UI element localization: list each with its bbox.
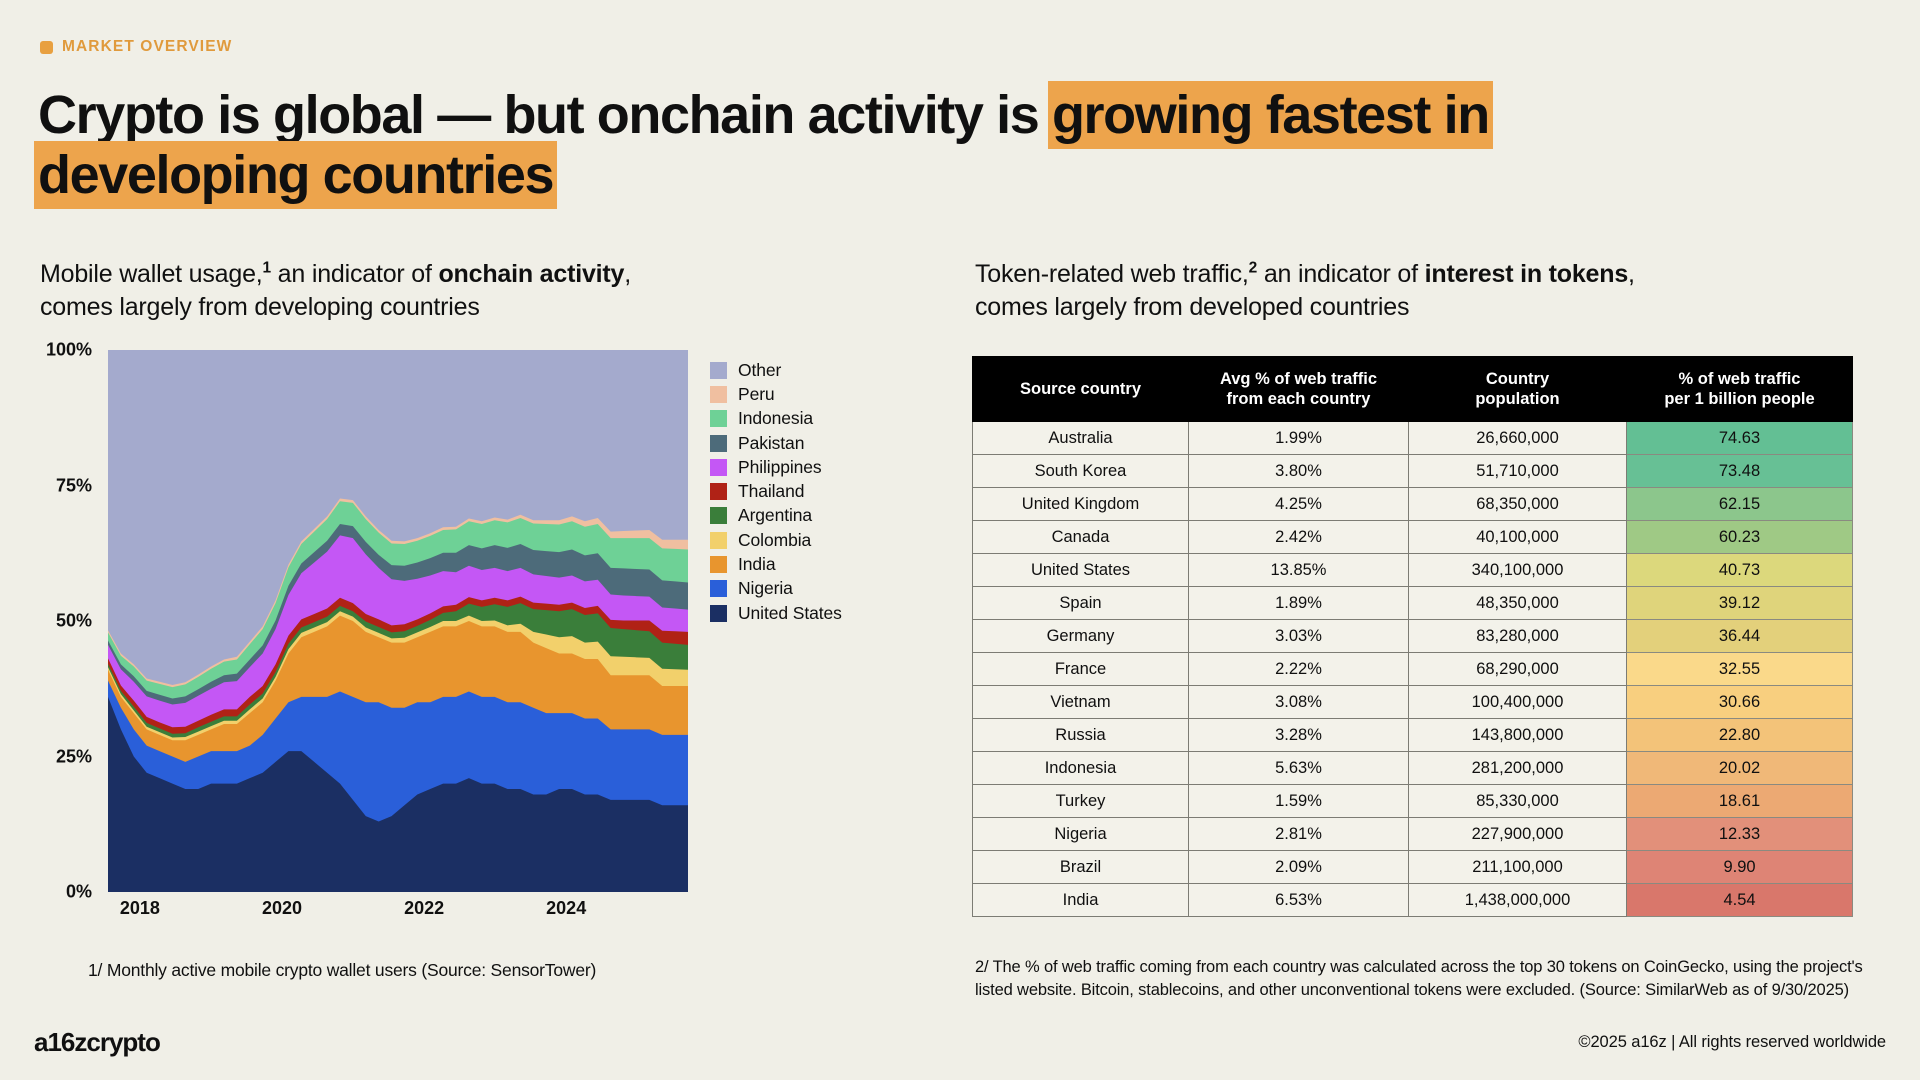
table-cell-avg-pct: 2.42% (1189, 521, 1409, 554)
legend-label: Other (738, 360, 781, 381)
table-cell-avg-pct: 5.63% (1189, 752, 1409, 785)
table-row: Spain1.89%48,350,00039.12 (973, 587, 1853, 620)
legend-label: Peru (738, 384, 775, 405)
legend-swatch-icon (710, 483, 727, 500)
left-panel-subtitle: Mobile wallet usage,1 an indicator of on… (40, 258, 830, 324)
left-subtitle-b: an indicator of (271, 260, 439, 288)
left-subtitle-a: Mobile wallet usage, (40, 260, 263, 288)
table-cell-population: 340,100,000 (1409, 554, 1627, 587)
legend-swatch-icon (710, 386, 727, 403)
table-cell-avg-pct: 2.09% (1189, 851, 1409, 884)
legend-label: United States (738, 603, 842, 624)
y-axis-tick: 100% (46, 340, 92, 361)
stacked-area-chart: 0%25%50%75%100% 2018202020222024 OtherPe… (38, 350, 938, 910)
header-line: population (1475, 390, 1559, 408)
table-cell-avg-pct: 4.25% (1189, 488, 1409, 521)
table-cell-per-billion: 20.02 (1627, 752, 1853, 785)
table-cell-avg-pct: 3.28% (1189, 719, 1409, 752)
legend-item[interactable]: Philippines (710, 455, 930, 479)
legend-item[interactable]: Other (710, 358, 930, 382)
table-cell-per-billion: 9.90 (1627, 851, 1853, 884)
table-row: Brazil2.09%211,100,0009.90 (973, 851, 1853, 884)
left-subtitle-footnote-marker: 1 (263, 260, 271, 277)
table-cell-per-billion: 30.66 (1627, 686, 1853, 719)
right-subtitle-b: an indicator of (1257, 260, 1425, 288)
table-cell-population: 26,660,000 (1409, 422, 1627, 455)
right-subtitle-line2: comes largely from developed countries (975, 293, 1409, 321)
x-axis-tick: 2018 (120, 898, 160, 919)
copyright-notice: ©2025 a16z | All rights reserved worldwi… (1578, 1033, 1886, 1052)
table-cell-avg-pct: 3.03% (1189, 620, 1409, 653)
table-cell-population: 40,100,000 (1409, 521, 1627, 554)
legend-swatch-icon (710, 556, 727, 573)
x-axis-tick: 2022 (404, 898, 444, 919)
legend-item[interactable]: India (710, 552, 930, 576)
legend-swatch-icon (710, 435, 727, 452)
legend-swatch-icon (710, 362, 727, 379)
table-row: Australia1.99%26,660,00074.63 (973, 422, 1853, 455)
chart-x-axis: 2018202020222024 (108, 898, 688, 928)
table-header-row: Source countryAvg % of web trafficfrom e… (973, 357, 1853, 422)
legend-label: India (738, 554, 775, 575)
chart-y-axis: 0%25%50%75%100% (38, 350, 100, 892)
left-subtitle-bold: onchain activity (438, 260, 624, 288)
table-cell-population: 281,200,000 (1409, 752, 1627, 785)
table-cell-per-billion: 4.54 (1627, 884, 1853, 917)
legend-swatch-icon (710, 507, 727, 524)
headline-line-2: developing countries (38, 148, 1658, 202)
left-footnote: 1/ Monthly active mobile crypto wallet u… (88, 960, 596, 981)
legend-label: Nigeria (738, 578, 793, 599)
brand-logo: a16zcrypto (34, 1027, 160, 1058)
table-cell-per-billion: 60.23 (1627, 521, 1853, 554)
y-axis-tick: 75% (56, 475, 92, 496)
table-cell-population: 83,280,000 (1409, 620, 1627, 653)
legend-swatch-icon (710, 580, 727, 597)
table-cell-per-billion: 32.55 (1627, 653, 1853, 686)
table-cell-population: 68,350,000 (1409, 488, 1627, 521)
table-cell-avg-pct: 2.22% (1189, 653, 1409, 686)
legend-item[interactable]: Pakistan (710, 431, 930, 455)
table-row: France2.22%68,290,00032.55 (973, 653, 1853, 686)
table-cell-country: Turkey (973, 785, 1189, 818)
table-row: Russia3.28%143,800,00022.80 (973, 719, 1853, 752)
table-column-header-1: Source country (973, 357, 1189, 422)
table-cell-per-billion: 40.73 (1627, 554, 1853, 587)
table-cell-country: United States (973, 554, 1189, 587)
legend-label: Pakistan (738, 433, 804, 454)
legend-item[interactable]: Indonesia (710, 407, 930, 431)
page-title: Crypto is global — but onchain activity … (38, 88, 1658, 208)
chart-legend: OtherPeruIndonesiaPakistanPhilippinesTha… (710, 358, 930, 625)
legend-swatch-icon (710, 410, 727, 427)
table-row: Vietnam3.08%100,400,00030.66 (973, 686, 1853, 719)
table-cell-per-billion: 74.63 (1627, 422, 1853, 455)
legend-swatch-icon (710, 459, 727, 476)
header-line: Country (1486, 370, 1549, 388)
table-cell-avg-pct: 1.99% (1189, 422, 1409, 455)
left-subtitle-c: , (624, 260, 631, 288)
legend-item[interactable]: Thailand (710, 479, 930, 503)
table-cell-country: Indonesia (973, 752, 1189, 785)
table-column-header-2: Avg % of web trafficfrom each country (1189, 357, 1409, 422)
legend-item[interactable]: Peru (710, 382, 930, 406)
legend-label: Philippines (738, 457, 822, 478)
right-subtitle-bold: interest in tokens (1425, 260, 1628, 288)
x-axis-tick: 2024 (546, 898, 586, 919)
table-cell-country: Australia (973, 422, 1189, 455)
header-line: per 1 billion people (1664, 390, 1814, 408)
table-row: Germany3.03%83,280,00036.44 (973, 620, 1853, 653)
table-row: South Korea3.80%51,710,00073.48 (973, 455, 1853, 488)
headline-line-1: Crypto is global — but onchain activity … (38, 88, 1658, 142)
legend-item[interactable]: Nigeria (710, 577, 930, 601)
headline-plain: Crypto is global — but onchain activity … (38, 85, 1052, 145)
table-cell-country: Russia (973, 719, 1189, 752)
table-cell-population: 1,438,000,000 (1409, 884, 1627, 917)
legend-swatch-icon (710, 532, 727, 549)
table-cell-per-billion: 18.61 (1627, 785, 1853, 818)
table-cell-avg-pct: 2.81% (1189, 818, 1409, 851)
header-line: Avg % of web traffic (1220, 370, 1377, 388)
area-series-svg (108, 350, 688, 892)
right-footnote: 2/ The % of web traffic coming from each… (975, 956, 1875, 1003)
table-cell-population: 143,800,000 (1409, 719, 1627, 752)
table-cell-population: 68,290,000 (1409, 653, 1627, 686)
table-row: Nigeria2.81%227,900,00012.33 (973, 818, 1853, 851)
table-row: Indonesia5.63%281,200,00020.02 (973, 752, 1853, 785)
table-cell-avg-pct: 6.53% (1189, 884, 1409, 917)
legend-item[interactable]: Colombia (710, 528, 930, 552)
table-row: United Kingdom4.25%68,350,00062.15 (973, 488, 1853, 521)
table-body: Australia1.99%26,660,00074.63South Korea… (973, 422, 1853, 917)
table-cell-population: 211,100,000 (1409, 851, 1627, 884)
y-axis-tick: 0% (66, 882, 92, 903)
table-cell-country: Nigeria (973, 818, 1189, 851)
legend-label: Thailand (738, 481, 804, 502)
table-cell-country: United Kingdom (973, 488, 1189, 521)
table-cell-population: 100,400,000 (1409, 686, 1627, 719)
table-cell-population: 51,710,000 (1409, 455, 1627, 488)
header-line: % of web traffic (1679, 370, 1801, 388)
chart-plot-area (108, 350, 688, 892)
legend-swatch-icon (710, 605, 727, 622)
y-axis-tick: 25% (56, 746, 92, 767)
table-cell-per-billion: 36.44 (1627, 620, 1853, 653)
square-bullet-icon (40, 41, 53, 54)
header-line: from each country (1227, 390, 1371, 408)
headline-highlight-2: developing countries (38, 145, 553, 205)
table-cell-country: France (973, 653, 1189, 686)
slide-root: MARKET OVERVIEW Crypto is global — but o… (0, 0, 1920, 1080)
table-cell-avg-pct: 1.59% (1189, 785, 1409, 818)
table-cell-country: Germany (973, 620, 1189, 653)
table-cell-country: Brazil (973, 851, 1189, 884)
header-line: Source country (1020, 380, 1141, 398)
right-subtitle-c: , (1628, 260, 1635, 288)
table-cell-country: Spain (973, 587, 1189, 620)
table-row: Canada2.42%40,100,00060.23 (973, 521, 1853, 554)
left-subtitle-line2: comes largely from developing countries (40, 293, 480, 321)
table-cell-country: South Korea (973, 455, 1189, 488)
right-subtitle-a: Token-related web traffic, (975, 260, 1249, 288)
table-cell-country: India (973, 884, 1189, 917)
table-cell-per-billion: 12.33 (1627, 818, 1853, 851)
headline-highlight-1: growing fastest in (1052, 85, 1489, 145)
table-cell-population: 85,330,000 (1409, 785, 1627, 818)
table-cell-avg-pct: 1.89% (1189, 587, 1409, 620)
right-panel-subtitle: Token-related web traffic,2 an indicator… (975, 258, 1875, 324)
table-row: Turkey1.59%85,330,00018.61 (973, 785, 1853, 818)
table-cell-country: Vietnam (973, 686, 1189, 719)
table-cell-avg-pct: 3.08% (1189, 686, 1409, 719)
web-traffic-table: Source countryAvg % of web trafficfrom e… (972, 356, 1852, 917)
table-row: United States13.85%340,100,00040.73 (973, 554, 1853, 587)
table-cell-population: 227,900,000 (1409, 818, 1627, 851)
table-row: India6.53%1,438,000,0004.54 (973, 884, 1853, 917)
legend-label: Indonesia (738, 408, 813, 429)
table-cell-per-billion: 39.12 (1627, 587, 1853, 620)
table-cell-country: Canada (973, 521, 1189, 554)
legend-item[interactable]: Argentina (710, 504, 930, 528)
table-column-header-3: Countrypopulation (1409, 357, 1627, 422)
table-cell-per-billion: 62.15 (1627, 488, 1853, 521)
table-cell-population: 48,350,000 (1409, 587, 1627, 620)
table-cell-per-billion: 22.80 (1627, 719, 1853, 752)
legend-item[interactable]: United States (710, 601, 930, 625)
eyebrow-tag: MARKET OVERVIEW (40, 38, 232, 56)
table-cell-avg-pct: 13.85% (1189, 554, 1409, 587)
x-axis-tick: 2020 (262, 898, 302, 919)
y-axis-tick: 50% (56, 611, 92, 632)
right-subtitle-footnote-marker: 2 (1249, 260, 1257, 277)
eyebrow-label: MARKET OVERVIEW (62, 38, 232, 56)
table-cell-avg-pct: 3.80% (1189, 455, 1409, 488)
legend-label: Argentina (738, 505, 812, 526)
legend-label: Colombia (738, 530, 811, 551)
table-cell-per-billion: 73.48 (1627, 455, 1853, 488)
table-column-header-4: % of web trafficper 1 billion people (1627, 357, 1853, 422)
